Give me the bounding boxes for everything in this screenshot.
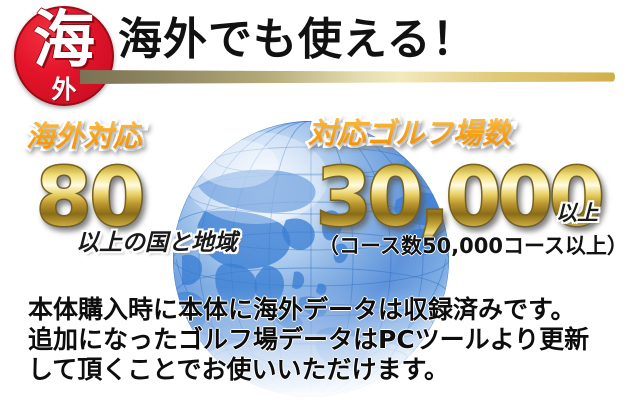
overseas-badge: 海 外 <box>14 6 114 106</box>
stat-1-suffix: 以上の国と地域 <box>76 230 237 256</box>
badge-main-kanji: 海 <box>14 9 114 71</box>
stat-2-suffix: 以上 <box>556 200 598 226</box>
body-copy: 本体購入時に本体に海外データは収録済みです。 追加になったゴルフ場データはPCツ… <box>28 295 589 385</box>
stat-1-heading: 海外対応 <box>26 119 142 153</box>
body-copy-line-1: 本体購入時に本体に海外データは収録済みです。 <box>28 295 589 325</box>
body-copy-line-3: して頂くことでお使いいただけます。 <box>28 355 589 385</box>
stat-1-value: 80 <box>36 158 143 238</box>
stat-2-heading: 対応ゴルフ場数 <box>308 116 511 150</box>
body-copy-line-2: 追加になったゴルフ場データはPCツールより更新 <box>28 325 589 355</box>
promo-poster: 海 外 海外でも使える！ 海外対応 海外対応 80 80 以上の国と地域 対応ゴ… <box>0 0 640 400</box>
stat-2-note: （コース数50,000コース以上） <box>318 234 628 259</box>
gold-divider-bar <box>80 70 615 84</box>
stat-2-value: 30,000 <box>316 158 601 238</box>
page-title: 海外でも使える！ <box>118 14 477 66</box>
